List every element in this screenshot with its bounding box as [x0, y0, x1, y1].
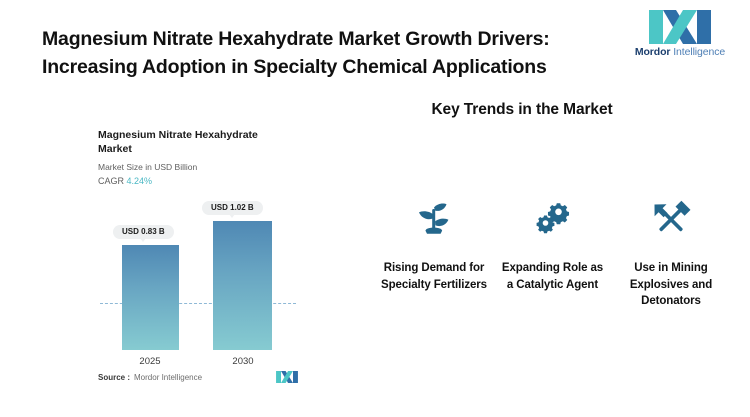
chart-subtitle: Market Size in USD Billion [98, 162, 298, 173]
mordor-m-logo-icon [649, 10, 711, 44]
seedling-plant-icon [413, 200, 455, 238]
bar-2025 [122, 245, 179, 350]
chart-title: Magnesium Nitrate Hexahydrate Market [98, 128, 274, 156]
cagr-label: CAGR [98, 176, 124, 186]
brand-logo: Mordor Intelligence [632, 10, 728, 58]
trend-card-catalytic: Expanding Role as a Catalytic Agent [499, 200, 607, 293]
chart-panel: Magnesium Nitrate Hexahydrate Market Mar… [98, 128, 298, 393]
chart-source: Source : Mordor Intelligence [98, 371, 298, 383]
brand-word-intelligence: Intelligence [670, 46, 725, 58]
chart-cagr: CAGR 4.24% [98, 176, 298, 188]
page-title: Magnesium Nitrate Hexahydrate Market Gro… [42, 26, 622, 81]
x-axis-label-2030: 2030 [208, 356, 278, 367]
source-name: Mordor Intelligence [134, 373, 202, 382]
mordor-m-logo-icon [276, 371, 298, 383]
brand-word-mordor: Mordor [635, 46, 671, 58]
value-badge-2025: USD 0.83 B [113, 225, 174, 239]
cagr-value: 4.24% [127, 176, 153, 186]
trends-heading: Key Trends in the Market [372, 101, 672, 119]
brand-wordmark: Mordor Intelligence [632, 47, 728, 58]
source-label: Source : [98, 373, 130, 382]
trend-label-mining: Use in Mining Explosives and Detonators [617, 260, 725, 310]
x-axis-label-2025: 2025 [115, 356, 185, 367]
crossed-pickaxe-hammer-icon [649, 200, 693, 238]
gears-icon [532, 200, 574, 238]
bar-chart-plot-area: USD 0.83 B USD 1.02 B 2025 2030 [98, 190, 298, 350]
trend-label-catalytic: Expanding Role as a Catalytic Agent [499, 260, 607, 293]
trend-card-fertilizers: Rising Demand for Specialty Fertilizers [380, 200, 488, 293]
page-title-line-1: Magnesium Nitrate Hexahydrate Market Gro… [42, 26, 622, 54]
trends-row: Rising Demand for Specialty Fertilizers … [380, 200, 725, 310]
value-badge-2030: USD 1.02 B [202, 201, 263, 215]
trend-card-mining: Use in Mining Explosives and Detonators [617, 200, 725, 310]
bar-2030 [213, 221, 272, 350]
trend-label-fertilizers: Rising Demand for Specialty Fertilizers [380, 260, 488, 293]
page-title-line-2: Increasing Adoption in Specialty Chemica… [42, 54, 622, 82]
